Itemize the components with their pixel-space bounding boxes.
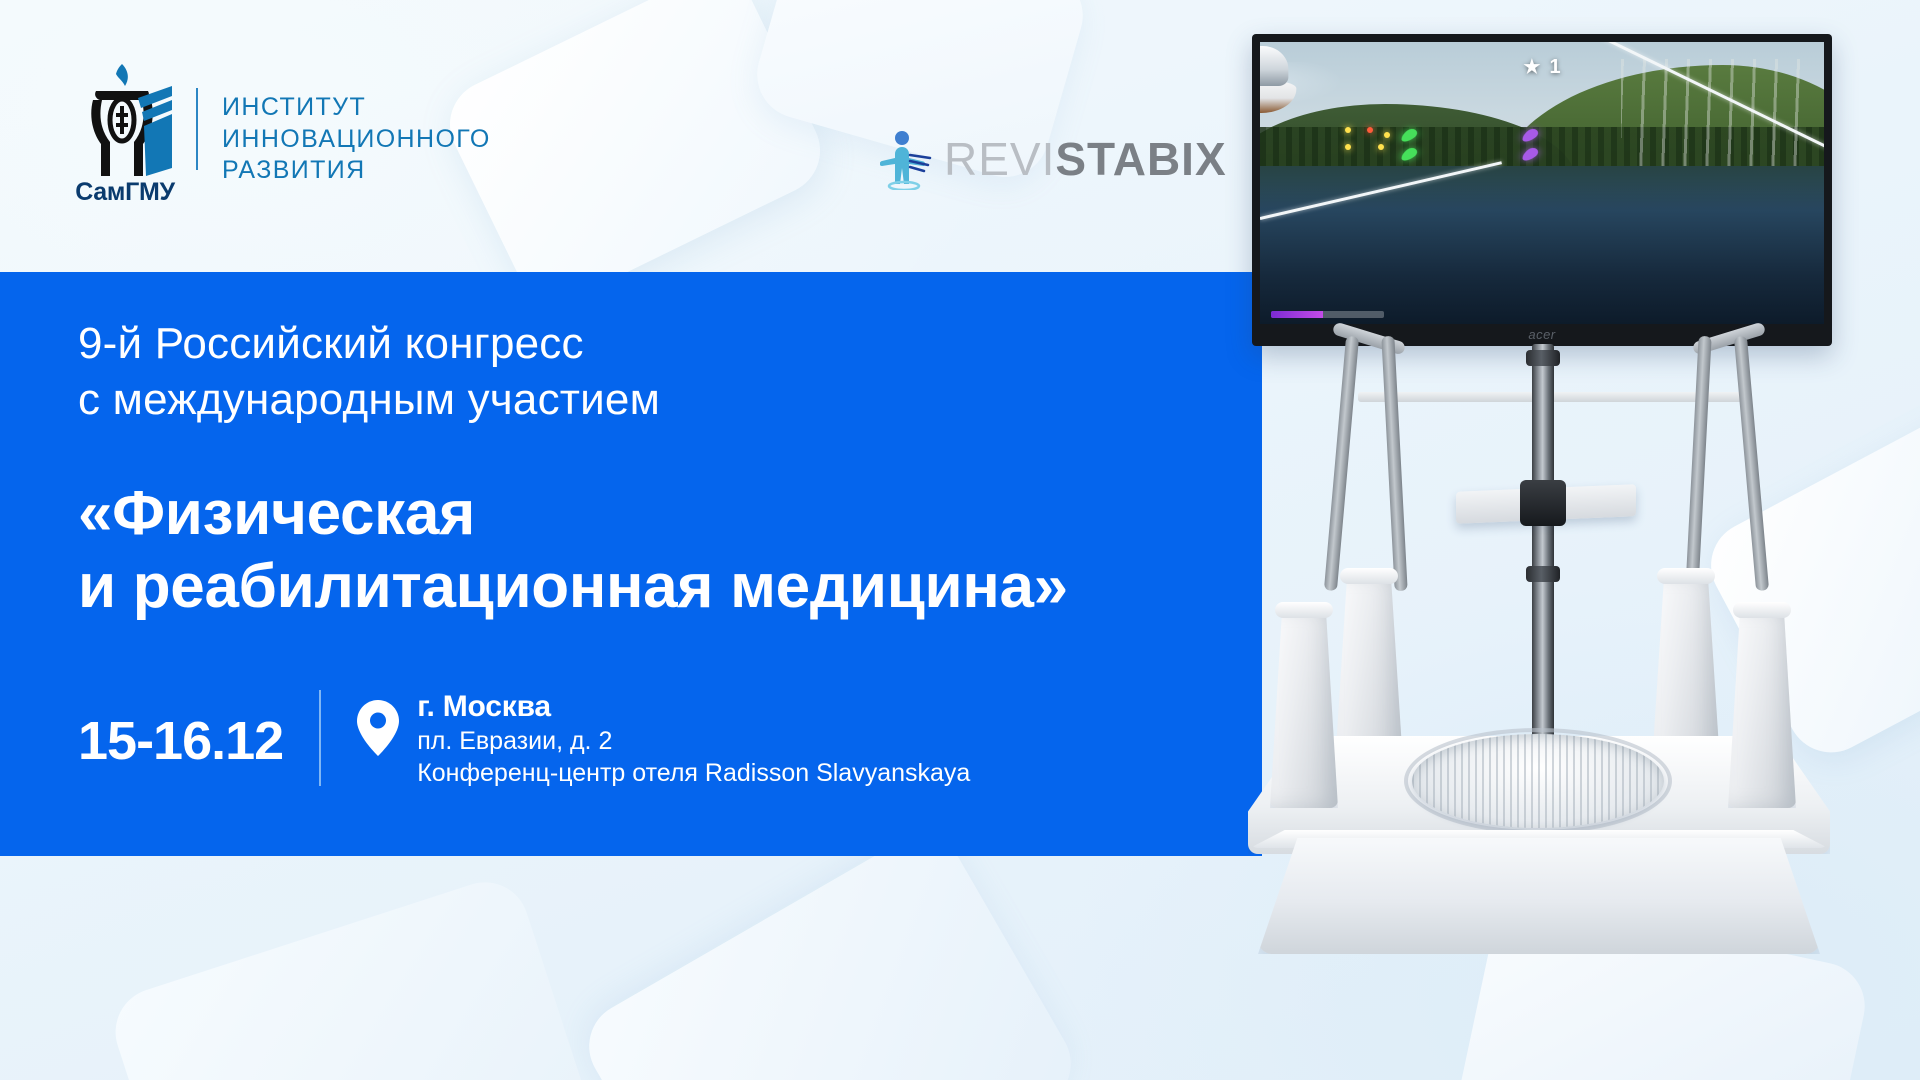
revistabix-wordmark: REVISTABIX: [944, 136, 1227, 182]
stabilo-tray-clamp: [1520, 480, 1566, 526]
monitor: ★ 1 acer: [1252, 34, 1832, 346]
decorative-shape-6: [104, 871, 606, 1080]
stabilo-post-right-back: [1652, 574, 1720, 764]
stabilo-handrail-left-outer: [1324, 336, 1359, 591]
stabilo-post-left-back: [1335, 574, 1403, 764]
stabilo-post-left-front: [1270, 608, 1338, 808]
meta-divider: [319, 690, 321, 786]
game-boat-cabin: [1260, 46, 1288, 85]
game-progress-fill: [1271, 311, 1323, 318]
samgmu-logo-icon: [62, 58, 182, 188]
title-line-1: «Физическая: [78, 478, 1238, 551]
game-spark: [1367, 127, 1373, 133]
event-date: 15-16.12: [78, 690, 283, 768]
institute-name-line-2: ИННОВАЦИОННОГО: [222, 124, 491, 156]
stabilo-pole: [1532, 344, 1554, 774]
game-boat: [1260, 42, 1297, 113]
institute-name: ИНСТИТУТ ИННОВАЦИОННОГО РАЗВИТИЯ: [222, 92, 491, 187]
stabilo-base-body: [1258, 838, 1820, 954]
venue-place: Конференц-центр отеля Radisson Slavyansk…: [417, 757, 970, 790]
event-meta-row: 15-16.12 г. Москва пл. Евразии, д. 2 Кон…: [78, 690, 970, 790]
game-progress-bar: [1271, 311, 1384, 318]
kicker-line-1: 9-й Российский конгресс: [78, 316, 1178, 372]
promo-banner: СамГМУ ИНСТИТУТ ИННОВАЦИОННОГО РАЗВИТИЯ …: [0, 0, 1920, 1080]
logo-row: СамГМУ ИНСТИТУТ ИННОВАЦИОННОГО РАЗВИТИЯ …: [0, 0, 1262, 272]
stabilo-pole-joint-top: [1526, 350, 1560, 366]
venue-block: г. Москва пл. Евразии, д. 2 Конференц-це…: [417, 690, 970, 790]
stabilo-post-cap-left-front: [1275, 602, 1333, 618]
monitor-screen: ★ 1: [1260, 42, 1824, 324]
stabilo-post-right-front: [1728, 608, 1796, 808]
location-pin-icon: [357, 700, 399, 756]
stabilo-handrail-left-inner: [1381, 336, 1407, 591]
venue-street: пл. Евразии, д. 2: [417, 725, 970, 758]
stabilo-post-cap-right-front: [1733, 602, 1791, 618]
stabilo-post-cap-left-back: [1340, 568, 1398, 584]
game-score-value: 1: [1549, 56, 1560, 79]
institute-name-line-3: РАЗВИТИЯ: [222, 155, 491, 187]
stabilo-handrail-right-outer: [1734, 336, 1769, 591]
event-kicker: 9-й Российский конгресс с международным …: [78, 316, 1178, 429]
revistabix-logo: REVISTABIX: [880, 128, 1227, 190]
page-title: «Физическая и реабилитационная медицина»: [78, 478, 1238, 623]
stabilo-pole-joint-bottom: [1526, 566, 1560, 582]
game-water-reflection: [1260, 166, 1824, 211]
revistabix-prefix: REVI: [944, 133, 1055, 185]
decorative-shape-4: [573, 820, 1087, 1080]
institute-name-line-1: ИНСТИТУТ: [222, 92, 491, 124]
game-spark: [1378, 144, 1384, 150]
kicker-line-2: с международным участием: [78, 372, 1178, 428]
star-icon: ★: [1523, 58, 1540, 77]
product-photo: ★ 1 acer: [1240, 18, 1920, 1068]
standing-person-icon: [880, 128, 936, 190]
stabilo-balance-plate: [1412, 734, 1664, 828]
game-spark: [1345, 144, 1351, 150]
title-line-2: и реабилитационная медицина»: [78, 551, 1238, 624]
stabilo-handrail-right-inner: [1685, 336, 1711, 591]
game-spark: [1345, 127, 1351, 133]
venue-city: г. Москва: [417, 690, 970, 725]
revistabix-suffix: STABIX: [1055, 133, 1226, 185]
samgmu-wordmark: СамГМУ: [50, 180, 200, 205]
stabilo-post-cap-right-back: [1657, 568, 1715, 584]
logo-divider: [196, 88, 198, 170]
game-score-hud: ★ 1: [1523, 56, 1560, 79]
